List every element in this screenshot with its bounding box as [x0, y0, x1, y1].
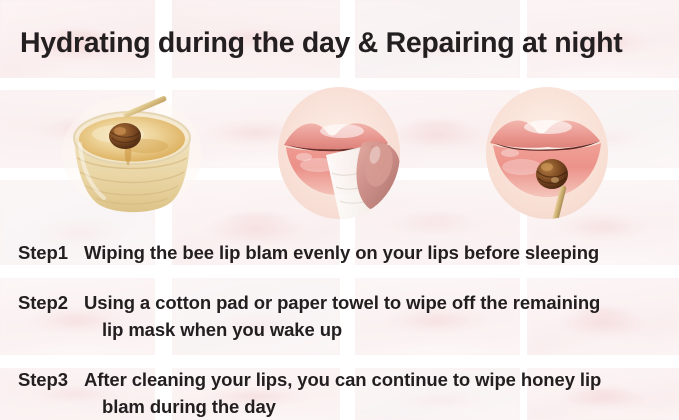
step-2-continuation: lip mask when you wake up — [18, 319, 342, 341]
step-2-label: Step2 — [18, 292, 84, 314]
step-3-continuation: blam during the day — [18, 396, 276, 418]
step-3-line-1: After cleaning your lips, you can contin… — [84, 369, 601, 390]
product-instruction-poster: Hydrating during the day & Repairing at … — [0, 0, 679, 420]
step-1: Step1Wiping the bee lip blam evenly on y… — [18, 242, 599, 264]
step-instructions: Step1Wiping the bee lip blam evenly on y… — [0, 0, 679, 420]
step-1-label: Step1 — [18, 242, 84, 264]
step-3-label: Step3 — [18, 369, 84, 391]
step-3: Step3After cleaning your lips, you can c… — [18, 369, 601, 391]
step-3-line-2: blam during the day — [102, 396, 276, 417]
step-1-line-1: Wiping the bee lip blam evenly on your l… — [84, 242, 599, 263]
step-2: Step2Using a cotton pad or paper towel t… — [18, 292, 600, 314]
step-2-line-1: Using a cotton pad or paper towel to wip… — [84, 292, 600, 313]
step-2-line-2: lip mask when you wake up — [102, 319, 342, 340]
